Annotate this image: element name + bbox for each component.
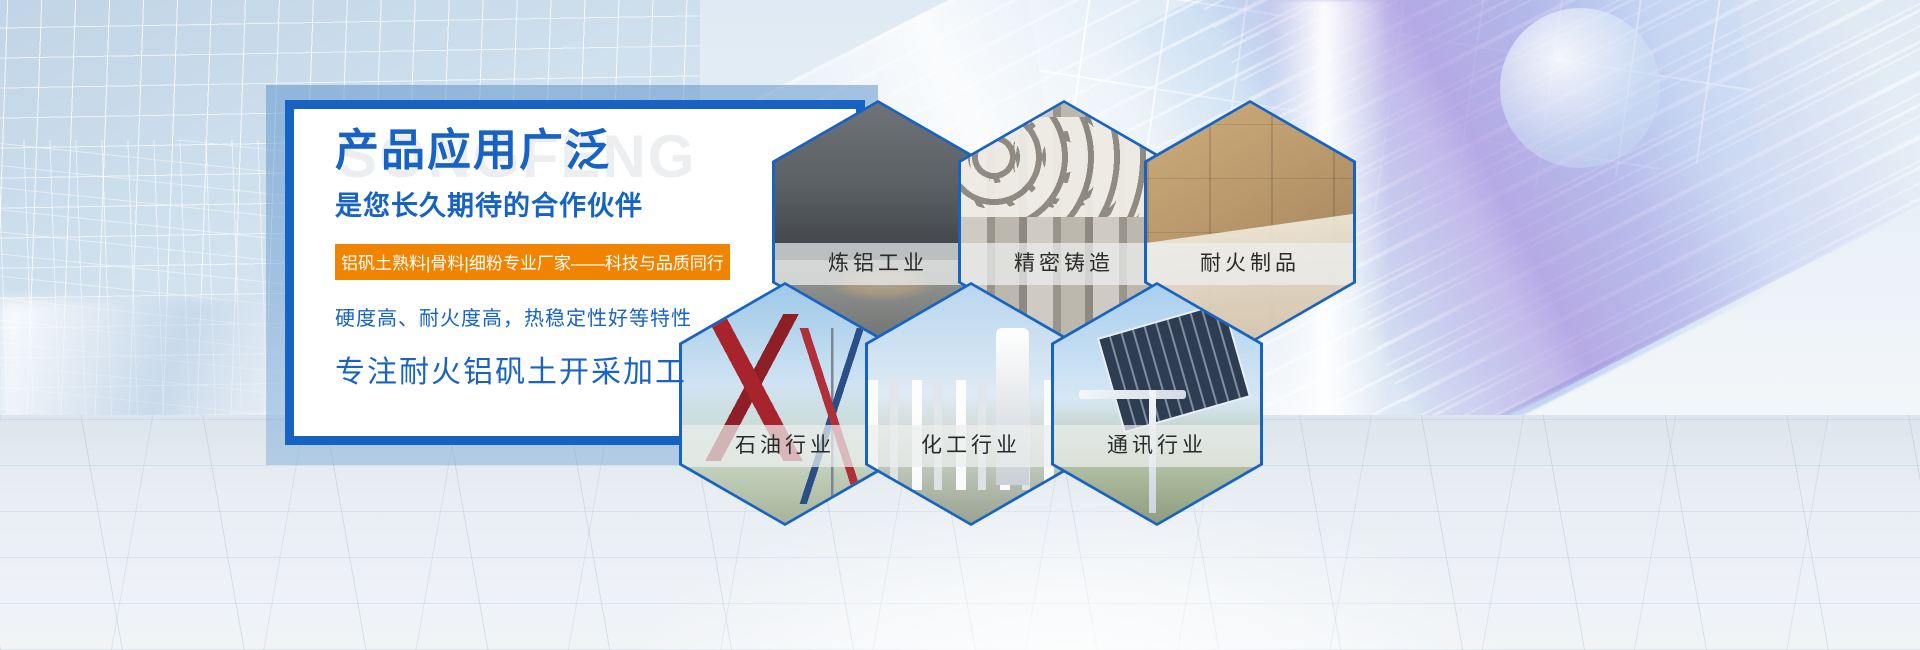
hex-label: 炼铝工业 bbox=[775, 243, 981, 285]
hex-label: 精密铸造 bbox=[961, 243, 1167, 285]
hex-label: 通讯行业 bbox=[1054, 425, 1260, 467]
hex-label: 化工行业 bbox=[868, 425, 1074, 467]
tagline-orange-bar: 铝矾土熟料|骨料|细粉专业厂家——科技与品质同行 bbox=[335, 244, 730, 280]
telecom-pole-arm bbox=[1079, 390, 1186, 399]
subheadline: 是您长久期待的合作伙伴 bbox=[335, 184, 865, 223]
headline: 产品应用广泛 bbox=[335, 128, 865, 174]
feature-line: 硬度高、耐火度高，热稳定性好等特性 bbox=[335, 302, 865, 331]
hex-label: 石油行业 bbox=[682, 425, 888, 467]
banner-stage: SONGFENG 产品应用广泛 是您长久期待的合作伙伴 铝矾土熟料|骨料|细粉专… bbox=[0, 0, 1920, 650]
slogan: 专注耐火铝矾土开采加工 bbox=[335, 347, 865, 391]
hex-label: 耐火制品 bbox=[1147, 243, 1353, 285]
hexagon-grid: 炼铝工业 精密铸造 耐火制品 石油行业 化工行业 bbox=[0, 0, 1920, 650]
